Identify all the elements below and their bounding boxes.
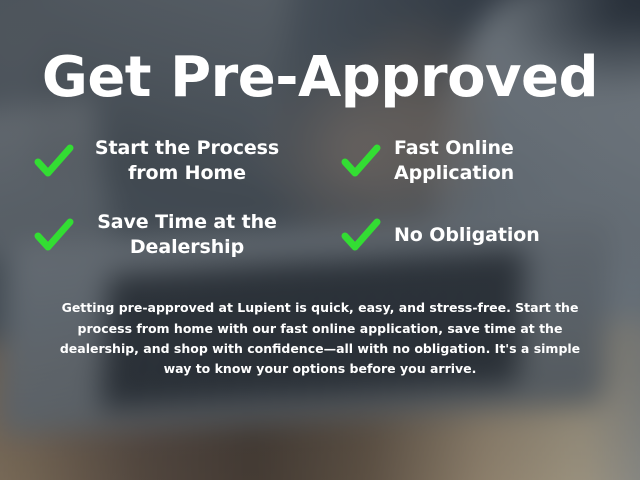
- benefit-item-fast-application: Fast Online Application: [320, 132, 625, 190]
- benefits-grid: Start the Process from Home Fast Online …: [15, 132, 625, 264]
- benefit-item-start-process: Start the Process from Home: [15, 132, 320, 190]
- benefit-label: No Obligation: [394, 223, 574, 248]
- benefit-item-no-obligation: No Obligation: [320, 206, 625, 264]
- pre-approval-banner: Get Pre-Approved Start the Process from …: [0, 0, 640, 480]
- banner-content: Get Pre-Approved Start the Process from …: [0, 0, 640, 480]
- benefit-label: Save Time at the Dealership: [87, 210, 287, 260]
- description-paragraph: Getting pre-approved at Lupient is quick…: [50, 298, 590, 379]
- check-icon: [33, 140, 75, 182]
- benefit-item-save-time: Save Time at the Dealership: [15, 206, 320, 264]
- benefit-label: Fast Online Application: [394, 136, 574, 186]
- check-icon: [340, 140, 382, 182]
- check-icon: [340, 214, 382, 256]
- page-title: Get Pre-Approved: [42, 50, 598, 106]
- benefit-label: Start the Process from Home: [87, 136, 287, 186]
- check-icon: [33, 214, 75, 256]
